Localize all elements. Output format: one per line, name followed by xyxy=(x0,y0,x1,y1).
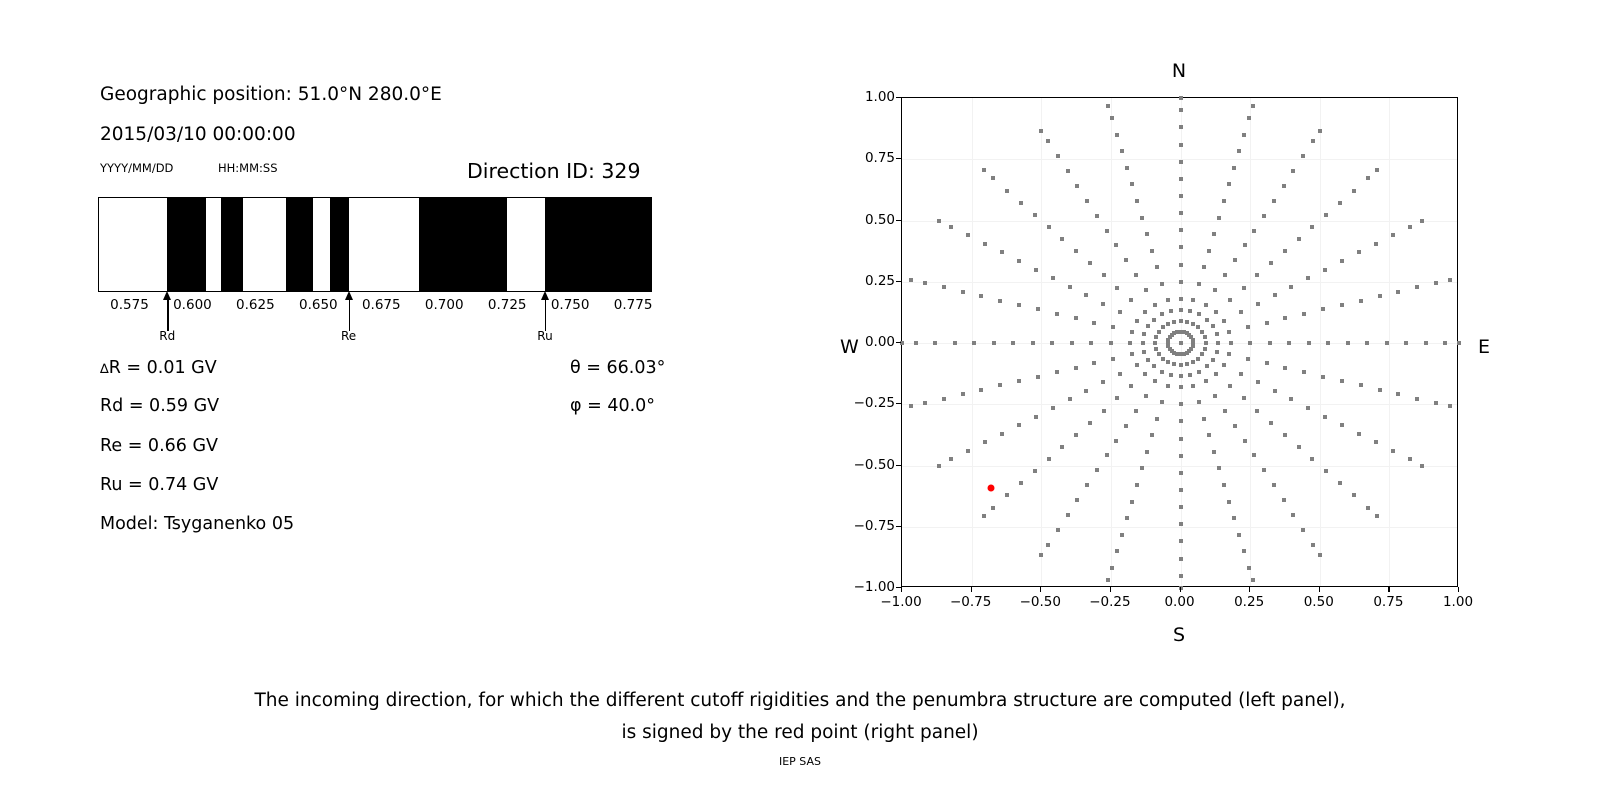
scatter-point xyxy=(1306,276,1310,280)
scatter-point xyxy=(1134,409,1138,413)
scatter-point xyxy=(1109,341,1113,345)
scatter-point xyxy=(1191,360,1195,364)
scatter-point xyxy=(1145,450,1149,454)
scatter-point xyxy=(1169,309,1173,313)
compass-label-west: W xyxy=(840,336,859,358)
scatter-point xyxy=(1092,321,1096,325)
scatter-point xyxy=(1443,341,1447,345)
scatter-point xyxy=(1197,282,1201,286)
scatter-point xyxy=(914,341,918,345)
scatter-point xyxy=(1146,324,1150,328)
scatter-point xyxy=(1215,332,1219,336)
penumbra-band-forbidden xyxy=(221,198,242,291)
scatter-point xyxy=(1228,298,1232,302)
scatter-point xyxy=(1085,199,1089,203)
scatter-point xyxy=(1039,553,1043,557)
scatter-point xyxy=(1142,350,1146,354)
x-axis-tick-mark xyxy=(1458,587,1459,592)
scatter-point xyxy=(1143,310,1147,314)
scatter-point xyxy=(1340,379,1344,383)
scatter-point xyxy=(1046,139,1050,143)
scatter-point xyxy=(1227,352,1231,356)
scatter-point xyxy=(1124,258,1128,262)
scatter-point xyxy=(1203,335,1207,339)
parameter-text: Rd = 0.59 GV xyxy=(100,396,219,416)
penumbra-band-forbidden xyxy=(167,198,206,291)
scatter-point xyxy=(1179,437,1183,441)
scatter-point xyxy=(1420,219,1424,223)
scatter-point xyxy=(966,449,970,453)
scatter-point xyxy=(1207,249,1211,253)
scatter-point xyxy=(1242,133,1246,137)
scatter-point xyxy=(979,294,983,298)
scatter-point xyxy=(1338,201,1342,205)
scatter-point xyxy=(1232,516,1236,520)
scatter-point xyxy=(1143,372,1147,376)
scatter-point xyxy=(1060,237,1064,241)
scatter-point xyxy=(1273,293,1277,297)
scatter-point xyxy=(1227,182,1231,186)
scatter-point xyxy=(953,341,957,345)
scatter-point xyxy=(1269,421,1273,425)
scatter-point xyxy=(1179,194,1183,198)
scatter-point xyxy=(1243,439,1247,443)
x-axis-tick-label: −0.25 xyxy=(1089,594,1130,610)
scatter-point xyxy=(1166,298,1170,302)
scatter-point xyxy=(1034,268,1038,272)
scatter-point xyxy=(909,404,913,408)
scatter-point xyxy=(1378,388,1382,392)
scatter-point xyxy=(1282,184,1286,188)
scatter-point xyxy=(1227,500,1231,504)
penumbra-tick-label: 0.775 xyxy=(614,297,653,313)
scatter-point xyxy=(1326,341,1330,345)
scatter-point xyxy=(1287,341,1291,345)
scatter-point xyxy=(966,233,970,237)
scatter-point xyxy=(1179,143,1183,147)
y-axis-tick-label: 0.50 xyxy=(865,212,895,228)
scatter-point xyxy=(1135,199,1139,203)
scatter-point xyxy=(1204,303,1208,307)
scatter-point xyxy=(1172,362,1176,366)
scatter-point xyxy=(1160,282,1164,286)
scatter-point xyxy=(1095,214,1099,218)
scatter-point xyxy=(1160,400,1164,404)
scatter-point xyxy=(1039,129,1043,133)
penumbra-tick-label: 0.675 xyxy=(362,297,401,313)
scatter-point xyxy=(1311,543,1315,547)
scatter-point xyxy=(1169,373,1173,377)
scatter-point xyxy=(1359,299,1363,303)
scatter-point xyxy=(1129,298,1133,302)
scatter-point xyxy=(1144,288,1148,292)
scatter-point xyxy=(1179,539,1183,543)
scatter-point xyxy=(1047,225,1051,229)
scatter-point xyxy=(1374,242,1378,246)
scatter-point xyxy=(972,341,976,345)
scatter-point xyxy=(1175,330,1179,334)
scatter-point xyxy=(1237,533,1241,537)
parameter-text: Model: Tsyganenko 05 xyxy=(100,514,294,534)
y-axis-tick-label: −0.75 xyxy=(854,518,895,534)
gridline-horizontal xyxy=(902,466,1457,467)
x-axis-tick-mark xyxy=(1180,587,1181,592)
scatter-point xyxy=(1130,500,1134,504)
scatter-point xyxy=(1282,498,1286,502)
marker-shaft xyxy=(545,297,546,331)
scatter-point xyxy=(1251,578,1255,582)
scatter-point xyxy=(1179,125,1183,129)
scatter-point xyxy=(1366,506,1370,510)
scatter-point xyxy=(1179,211,1183,215)
scatter-point xyxy=(1197,400,1201,404)
x-axis-tick-label: 0.00 xyxy=(1164,594,1194,610)
x-axis-tick-label: −0.75 xyxy=(950,594,991,610)
scatter-point xyxy=(1118,310,1122,314)
scatter-point xyxy=(1255,409,1259,413)
scatter-point xyxy=(1161,357,1165,361)
scatter-point xyxy=(1166,384,1170,388)
scatter-point xyxy=(1155,265,1159,269)
scatter-point xyxy=(1297,237,1301,241)
scatter-point xyxy=(1242,396,1246,400)
scatter-point xyxy=(1408,457,1412,461)
scatter-point xyxy=(1179,557,1183,561)
scatter-point xyxy=(1366,176,1370,180)
scatter-point xyxy=(1202,265,1206,269)
penumbra-band-forbidden xyxy=(419,198,507,291)
scatter-point xyxy=(1084,389,1088,393)
scatter-point xyxy=(1105,453,1109,457)
scatter-point xyxy=(1118,372,1122,376)
scatter-point xyxy=(1074,316,1078,320)
scatter-point xyxy=(1129,384,1133,388)
scatter-point xyxy=(1152,364,1156,368)
scatter-point xyxy=(1265,321,1269,325)
scatter-point xyxy=(1188,373,1192,377)
scatter-point xyxy=(1055,312,1059,316)
scatter-point xyxy=(1273,389,1277,393)
parameter-model: Model: Tsyganenko 05 xyxy=(100,514,294,534)
scatter-point xyxy=(1033,213,1037,217)
scatter-point xyxy=(1233,424,1237,428)
scatter-point xyxy=(1385,341,1389,345)
scatter-point xyxy=(1302,370,1306,374)
scatter-point xyxy=(961,392,965,396)
scatter-point xyxy=(1265,361,1269,365)
scatter-point xyxy=(1196,325,1200,329)
scatter-point xyxy=(1106,104,1110,108)
scatter-point xyxy=(1243,243,1247,247)
scatter-point xyxy=(1130,352,1134,356)
x-axis-tick-mark xyxy=(1040,587,1041,592)
scatter-point xyxy=(1157,330,1161,334)
scatter-point xyxy=(1060,445,1064,449)
scatter-point xyxy=(1070,341,1074,345)
scatter-point xyxy=(1134,273,1138,277)
scatter-point xyxy=(1179,108,1183,112)
scatter-point xyxy=(1301,154,1305,158)
scatter-point xyxy=(1247,116,1251,120)
scatter-point xyxy=(1289,397,1293,401)
scatter-point xyxy=(1204,341,1208,345)
scatter-point xyxy=(937,464,941,468)
x-axis-tick-mark xyxy=(971,587,972,592)
scatter-point xyxy=(1161,325,1165,329)
scatter-point xyxy=(1125,166,1129,170)
scatter-point xyxy=(1222,319,1226,323)
marker-shaft xyxy=(349,297,350,331)
scatter-point xyxy=(1125,516,1129,520)
scatter-point xyxy=(1302,312,1306,316)
scatter-point xyxy=(1005,493,1009,497)
angle-phi: φ = 40.0° xyxy=(570,396,655,416)
scatter-point xyxy=(1101,302,1105,306)
scatter-point xyxy=(1191,298,1195,302)
scatter-point xyxy=(1239,372,1243,376)
scatter-point xyxy=(1066,513,1070,517)
y-axis-tick-label: −1.00 xyxy=(854,579,895,595)
scatter-point xyxy=(1203,347,1207,351)
scatter-point xyxy=(1074,249,1078,253)
scatter-point xyxy=(1084,293,1088,297)
scatter-point xyxy=(1434,401,1438,405)
parameter-prefix: ∆ xyxy=(100,362,109,377)
scatter-point xyxy=(1415,397,1419,401)
scatter-point xyxy=(998,299,1002,303)
scatter-point xyxy=(1252,229,1256,233)
scatter-point xyxy=(1033,469,1037,473)
scatter-point xyxy=(1017,423,1021,427)
scatter-point xyxy=(1323,415,1327,419)
direction-scatter-panel: −1.00−0.75−0.50−0.250.000.250.500.751.00… xyxy=(901,97,1458,587)
scatter-point xyxy=(1239,310,1243,314)
scatter-point xyxy=(1212,232,1216,236)
x-axis-tick-mark xyxy=(1388,587,1389,592)
scatter-point xyxy=(1150,249,1154,253)
angle-theta: θ = 66.03° xyxy=(570,358,665,378)
scatter-point xyxy=(1321,375,1325,379)
caption-line-1: The incoming direction, for which the di… xyxy=(0,685,1600,717)
scatter-point xyxy=(1017,379,1021,383)
scatter-point xyxy=(1179,419,1183,423)
x-axis-tick-label: −1.00 xyxy=(880,594,921,610)
scatter-point xyxy=(1289,285,1293,289)
scatter-point xyxy=(1075,498,1079,502)
y-axis-tick-label: 0.75 xyxy=(865,150,895,166)
x-axis-tick-label: 1.00 xyxy=(1443,594,1473,610)
compass-label-east: E xyxy=(1478,336,1490,358)
scatter-point xyxy=(1229,341,1233,345)
scatter-point xyxy=(1251,104,1255,108)
scatter-point xyxy=(1179,228,1183,232)
penumbra-tick-label: 0.750 xyxy=(551,297,590,313)
scatter-point xyxy=(1111,357,1115,361)
scatter-point xyxy=(1179,574,1183,578)
x-axis-tick-mark xyxy=(1319,587,1320,592)
scatter-point xyxy=(1196,357,1200,361)
scatter-point xyxy=(991,176,995,180)
scatter-point xyxy=(1050,341,1054,345)
scatter-point xyxy=(1179,245,1183,249)
scatter-point xyxy=(1318,129,1322,133)
scatter-point xyxy=(1114,439,1118,443)
scatter-point xyxy=(1110,116,1114,120)
y-axis-tick-mark xyxy=(896,220,901,221)
scatter-point xyxy=(1068,397,1072,401)
scatter-point xyxy=(1179,160,1183,164)
scatter-point xyxy=(1188,309,1192,313)
scatter-point xyxy=(1324,213,1328,217)
scatter-point xyxy=(1283,316,1287,320)
y-axis-tick-mark xyxy=(896,158,901,159)
scatter-point xyxy=(982,168,986,172)
scatter-point xyxy=(1055,370,1059,374)
scatter-point xyxy=(1352,189,1356,193)
scatter-point xyxy=(1211,358,1215,362)
scatter-point xyxy=(1256,380,1260,384)
scatter-point xyxy=(1179,96,1183,100)
scatter-point xyxy=(1222,199,1226,203)
scatter-point xyxy=(1338,481,1342,485)
scatter-point xyxy=(1115,549,1119,553)
scatter-point xyxy=(937,219,941,223)
scatter-point xyxy=(1120,533,1124,537)
scatter-point xyxy=(1019,201,1023,205)
scatter-point xyxy=(1179,341,1183,345)
marker-label: Ru xyxy=(537,329,552,343)
scatter-point xyxy=(1157,352,1161,356)
scatter-point xyxy=(979,388,983,392)
scatter-point xyxy=(1102,273,1106,277)
scatter-point xyxy=(1223,409,1227,413)
scatter-point xyxy=(1374,440,1378,444)
y-axis-tick-label: −0.25 xyxy=(854,395,895,411)
parameter-delta-R: ∆R = 0.01 GV xyxy=(100,358,217,378)
scatter-point xyxy=(949,225,953,229)
scatter-point xyxy=(1213,394,1217,398)
y-axis-tick-mark xyxy=(896,97,901,98)
scatter-point xyxy=(1324,469,1328,473)
scatter-point xyxy=(1017,259,1021,263)
scatter-point xyxy=(1215,350,1219,354)
scatter-point xyxy=(1318,553,1322,557)
penumbra-band-forbidden xyxy=(545,198,652,291)
scatter-point xyxy=(1130,330,1134,334)
scatter-point xyxy=(1310,457,1314,461)
scatter-point xyxy=(933,341,937,345)
scatter-point xyxy=(1166,360,1170,364)
scatter-point xyxy=(1346,341,1350,345)
parameter-text: Re = 0.66 GV xyxy=(100,436,218,456)
penumbra-tick-label: 0.625 xyxy=(236,297,275,313)
scatter-point xyxy=(1227,330,1231,334)
scatter-point xyxy=(1217,216,1221,220)
scatter-point xyxy=(1301,528,1305,532)
scatter-point xyxy=(1179,319,1183,323)
penumbra-tick-label: 0.600 xyxy=(173,297,212,313)
scatter-point xyxy=(1179,488,1183,492)
scatter-point xyxy=(1036,375,1040,379)
scatter-point xyxy=(1120,149,1124,153)
scatter-point xyxy=(1256,302,1260,306)
scatter-point xyxy=(1247,566,1251,570)
scatter-point xyxy=(949,457,953,461)
scatter-point xyxy=(1311,139,1315,143)
scatter-point xyxy=(1179,280,1183,284)
penumbra-bar-chart xyxy=(98,197,652,292)
scatter-point xyxy=(1323,268,1327,272)
scatter-point xyxy=(1115,396,1119,400)
scatter-point xyxy=(1365,341,1369,345)
y-axis-tick-label: −0.50 xyxy=(854,457,895,473)
scatter-point xyxy=(1283,433,1287,437)
scatter-point xyxy=(983,440,987,444)
scatter-point xyxy=(1179,505,1183,509)
scatter-point xyxy=(1152,318,1156,322)
scatter-point xyxy=(1268,341,1272,345)
scatter-point xyxy=(1074,433,1078,437)
x-axis-tick-label: −0.50 xyxy=(1020,594,1061,610)
scatter-point xyxy=(1200,352,1204,356)
scatter-point xyxy=(1114,243,1118,247)
scatter-point xyxy=(1283,366,1287,370)
scatter-point xyxy=(1141,341,1145,345)
scatter-point xyxy=(1391,449,1395,453)
scatter-point xyxy=(1179,402,1183,406)
scatter-point xyxy=(1056,154,1060,158)
scatter-point xyxy=(991,506,995,510)
scatter-point xyxy=(1205,364,1209,368)
scatter-point xyxy=(1291,169,1295,173)
scatter-point xyxy=(1031,341,1035,345)
geographic-position-label: Geographic position: 51.0°N 280.0°E xyxy=(100,84,442,105)
scatter-point xyxy=(1262,468,1266,472)
scatter-point xyxy=(1434,281,1438,285)
y-axis-tick-label: 0.25 xyxy=(865,273,895,289)
scatter-point xyxy=(1128,341,1132,345)
scatter-point xyxy=(1179,177,1183,181)
selected-direction-point[interactable] xyxy=(988,484,995,491)
scatter-point xyxy=(1391,233,1395,237)
scatter-point xyxy=(1307,341,1311,345)
scatter-point xyxy=(1179,374,1183,378)
y-axis-tick-label: 1.00 xyxy=(865,89,895,105)
scatter-point xyxy=(1197,370,1201,374)
penumbra-panel: Geographic position: 51.0°N 280.0°E 2015… xyxy=(0,0,760,640)
scatter-point xyxy=(982,514,986,518)
scatter-point xyxy=(1179,363,1183,367)
gridline-vertical xyxy=(1320,98,1321,586)
marker-label: Rd xyxy=(159,329,175,343)
scatter-point xyxy=(1066,169,1070,173)
scatter-point xyxy=(961,290,965,294)
scatter-point xyxy=(1297,445,1301,449)
scatter-point xyxy=(1359,383,1363,387)
x-axis-tick-label: 0.50 xyxy=(1304,594,1334,610)
scatter-point xyxy=(1135,363,1139,367)
scatter-point xyxy=(942,285,946,289)
scatter-point xyxy=(1000,250,1004,254)
scatter-point xyxy=(1068,285,1072,289)
scatter-point xyxy=(1222,483,1226,487)
scatter-point xyxy=(1211,324,1215,328)
scatter-point xyxy=(1357,432,1361,436)
scatter-point xyxy=(1056,528,1060,532)
scatter-point xyxy=(1204,379,1208,383)
x-axis-tick-mark xyxy=(1249,587,1250,592)
scatter-point xyxy=(1217,466,1221,470)
